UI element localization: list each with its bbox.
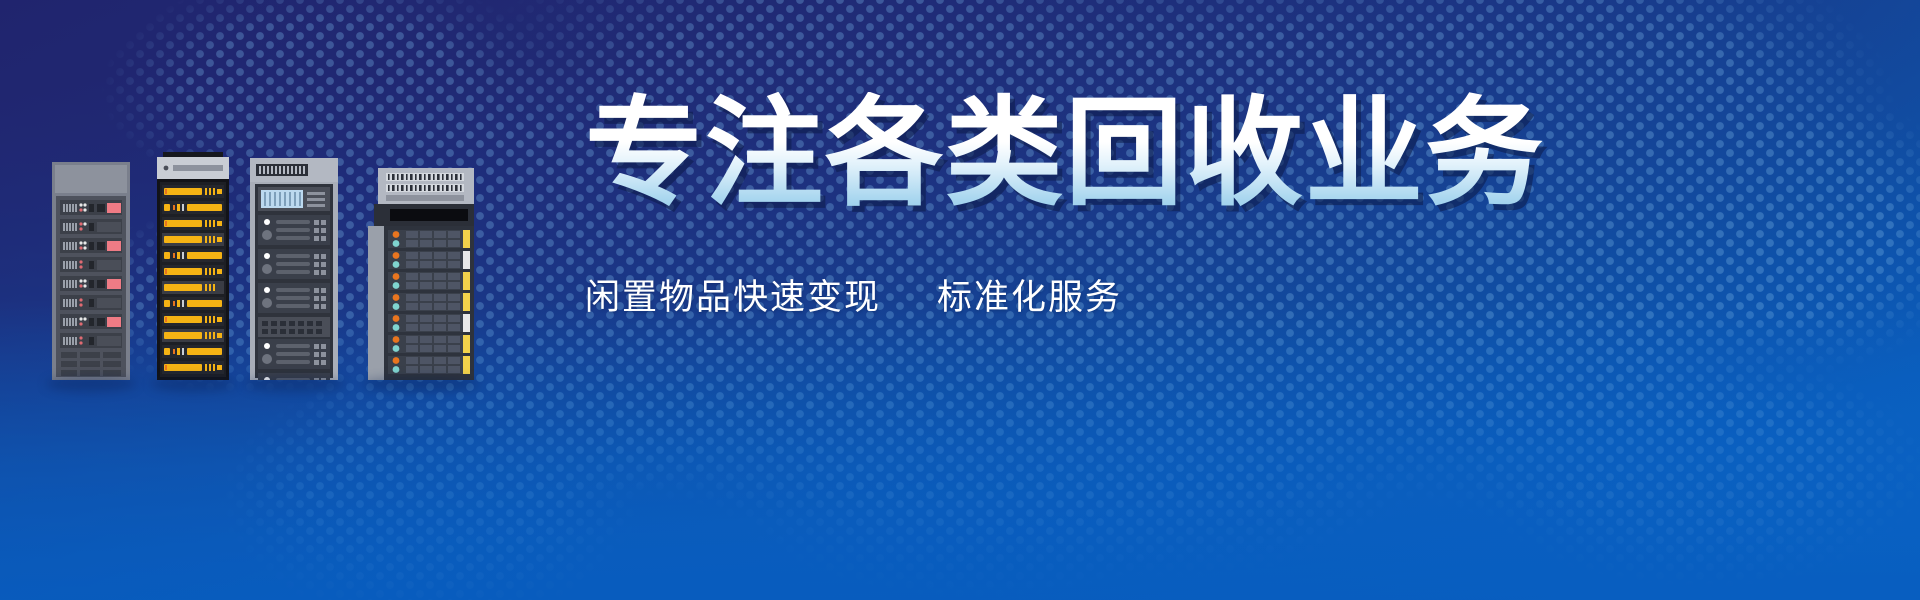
banner-subtitles: 闲置物品快速变现 标准化服务 [585, 275, 1865, 321]
rack-shadow [362, 376, 480, 392]
banner-subtitle-2: 标准化服务 [937, 275, 1122, 321]
banner-headline: 专注各类回收业务 [585, 92, 1865, 217]
banner-copy: 专注各类回收业务 闲置物品快速变现 标准化服务 [585, 92, 1865, 321]
rack-shadow [244, 376, 344, 392]
rack-shadow [46, 376, 136, 392]
server-rack-2 [157, 152, 229, 380]
rack-2-graphic [157, 152, 229, 380]
rack-4-graphic [368, 168, 474, 380]
rack-shadow [151, 376, 235, 392]
server-rack-3 [250, 158, 338, 380]
rack-1-graphic [52, 162, 130, 380]
server-rack-1 [52, 162, 130, 380]
server-rack-4 [368, 168, 474, 380]
rack-3-graphic [250, 158, 338, 380]
promo-banner: 专注各类回收业务 闲置物品快速变现 标准化服务 [0, 0, 1920, 600]
banner-subtitle-1: 闲置物品快速变现 [585, 275, 881, 321]
